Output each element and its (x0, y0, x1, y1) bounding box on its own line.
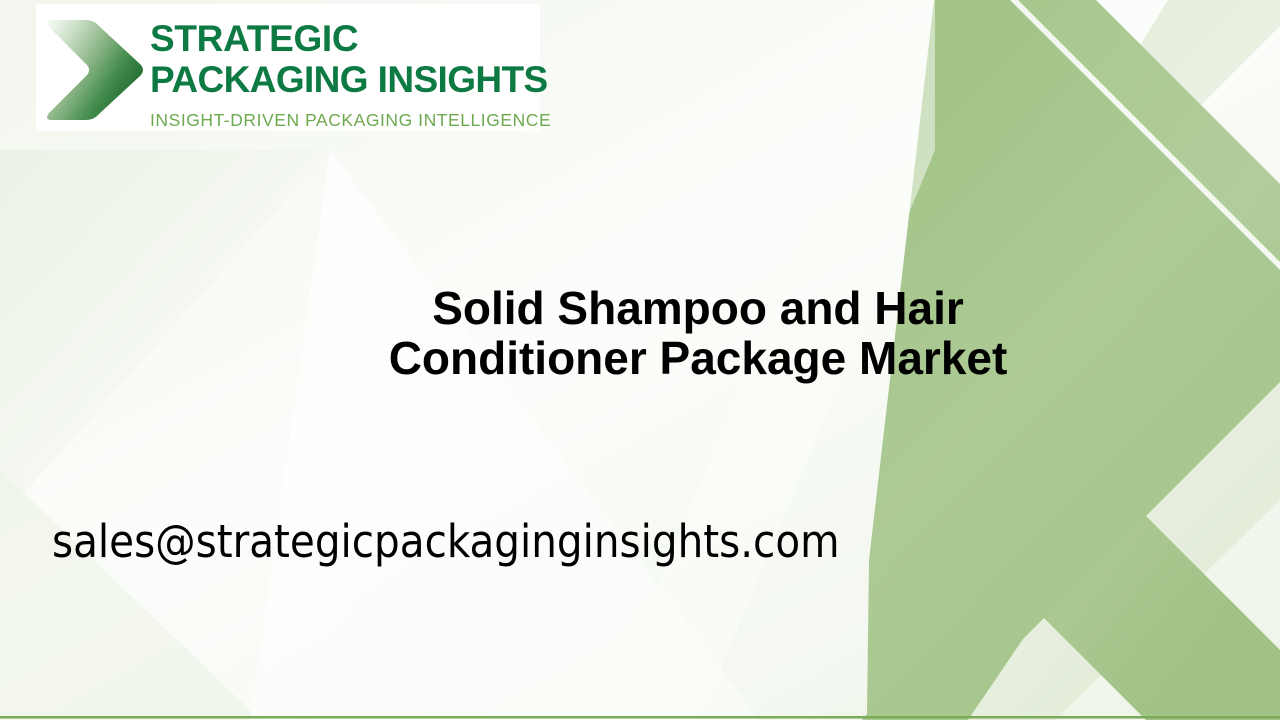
logo-name-line-1: STRATEGIC (150, 18, 538, 59)
title-slide: STRATEGIC PACKAGING INSIGHTS INSIGHT-DRI… (0, 0, 1280, 720)
logo-name-line-2: PACKAGING INSIGHTS (150, 59, 538, 100)
logo-wordmark: STRATEGIC PACKAGING INSIGHTS (150, 18, 538, 100)
page-title: Solid Shampoo and Hair Conditioner Packa… (348, 283, 1048, 383)
contact-email[interactable]: sales@strategicpackaginginsights.com (52, 513, 840, 571)
chevron-right-gradient-icon (40, 14, 148, 126)
logo-tagline: INSIGHT-DRIVEN PACKAGING INTELLIGENCE (150, 110, 551, 131)
logo-container: STRATEGIC PACKAGING INSIGHTS INSIGHT-DRI… (36, 4, 540, 131)
